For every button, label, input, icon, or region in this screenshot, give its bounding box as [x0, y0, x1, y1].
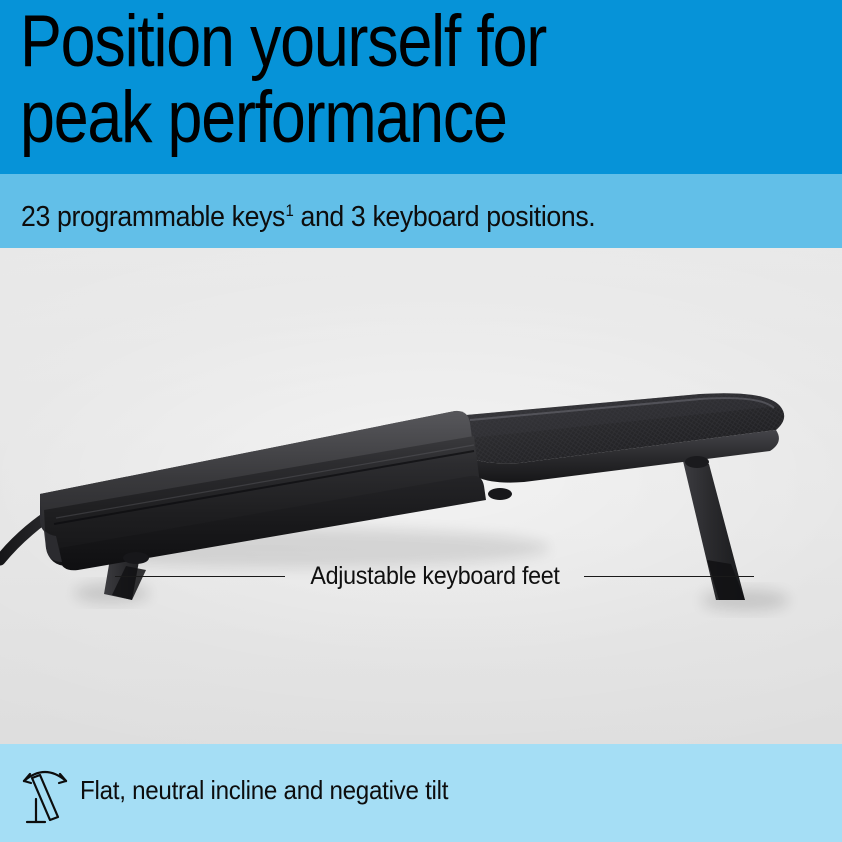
mid-rubber-foot: [488, 488, 512, 500]
footer-band: Flat, neutral incline and negative tilt: [0, 744, 842, 842]
keyboard-tilt-adjust-icon: [16, 761, 74, 827]
subtitle-prefix: 23 programmable keys: [21, 201, 285, 233]
keyboard-illustration: [0, 248, 842, 744]
palm-rest: [450, 388, 800, 483]
subtitle-band: 23 programmable keys1 and 3 keyboard pos…: [0, 174, 842, 248]
headline-band: Position yourself for peak performance: [0, 0, 842, 174]
subtitle-text: 23 programmable keys1 and 3 keyboard pos…: [21, 193, 595, 235]
right-rubber-foot: [685, 456, 709, 468]
product-photo-stage: Adjustable keyboard feet: [0, 248, 842, 744]
tilt-arrow-right: [59, 774, 66, 783]
subtitle-suffix: and 3 keyboard positions.: [293, 201, 595, 233]
subtitle-footnote-marker: 1: [285, 202, 293, 220]
headline-text: Position yourself for peak performance: [20, 4, 717, 156]
tilt-arrow-left: [24, 774, 31, 783]
footer-caption: Flat, neutral incline and negative tilt: [80, 774, 448, 806]
product-feature-panel: Position yourself for peak performance 2…: [0, 0, 842, 842]
left-rubber-foot: [123, 552, 149, 564]
